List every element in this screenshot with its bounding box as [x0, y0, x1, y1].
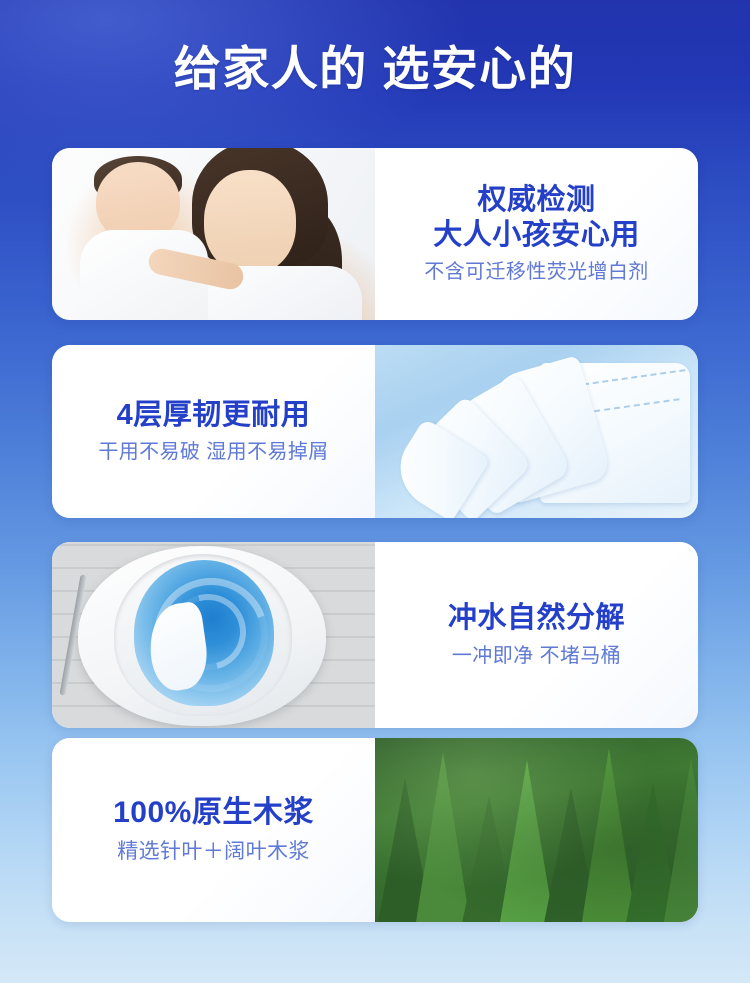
feature-headline: 权威检测 大人小孩安心用	[433, 183, 640, 251]
feature-text-authority-test: 权威检测 大人小孩安心用 不含可迁移性荧光增白剂	[375, 148, 698, 320]
stacked-tissue-sheets-photo	[375, 345, 698, 518]
feature-headline: 100%原生木浆	[113, 795, 314, 830]
feature-card-virgin-wood-pulp[interactable]: 100%原生木浆 精选针叶＋阔叶木浆	[52, 738, 698, 922]
feature-card-four-ply-durable[interactable]: 4层厚韧更耐用 干用不易破 湿用不易掉屑	[52, 345, 698, 518]
feature-text-virgin-wood-pulp: 100%原生木浆 精选针叶＋阔叶木浆	[52, 738, 375, 922]
feature-headline: 4层厚韧更耐用	[117, 398, 311, 432]
feature-subline: 一冲即净 不堵马桶	[452, 643, 621, 669]
feature-headline: 冲水自然分解	[448, 601, 625, 635]
feature-card-flushable[interactable]: 冲水自然分解 一冲即净 不堵马桶	[52, 542, 698, 728]
page-header: 给家人的 选安心的	[0, 0, 750, 136]
mother-and-baby-photo	[52, 148, 375, 320]
toilet-water-shape	[134, 560, 274, 706]
forest-haze-overlay	[375, 738, 698, 922]
mother-face-shape	[204, 170, 296, 274]
page-title: 给家人的 选安心的	[174, 45, 577, 92]
feature-text-four-ply-durable: 4层厚韧更耐用 干用不易破 湿用不易掉屑	[52, 345, 375, 518]
feature-subline: 不含可迁移性荧光增白剂	[424, 259, 648, 285]
product-feature-page: 给家人的 选安心的 权威检测 大人小孩安心用 不含可迁移性荧光增白剂 4层厚韧更…	[0, 0, 750, 983]
feature-text-flushable: 冲水自然分解 一冲即净 不堵马桶	[375, 542, 698, 728]
feature-card-authority-test[interactable]: 权威检测 大人小孩安心用 不含可迁移性荧光增白剂	[52, 148, 698, 320]
toilet-bowl-flush-photo	[52, 542, 375, 728]
conifer-forest-photo	[375, 738, 698, 922]
feature-subline: 精选针叶＋阔叶木浆	[117, 838, 310, 865]
feature-subline: 干用不易破 湿用不易掉屑	[98, 439, 328, 465]
